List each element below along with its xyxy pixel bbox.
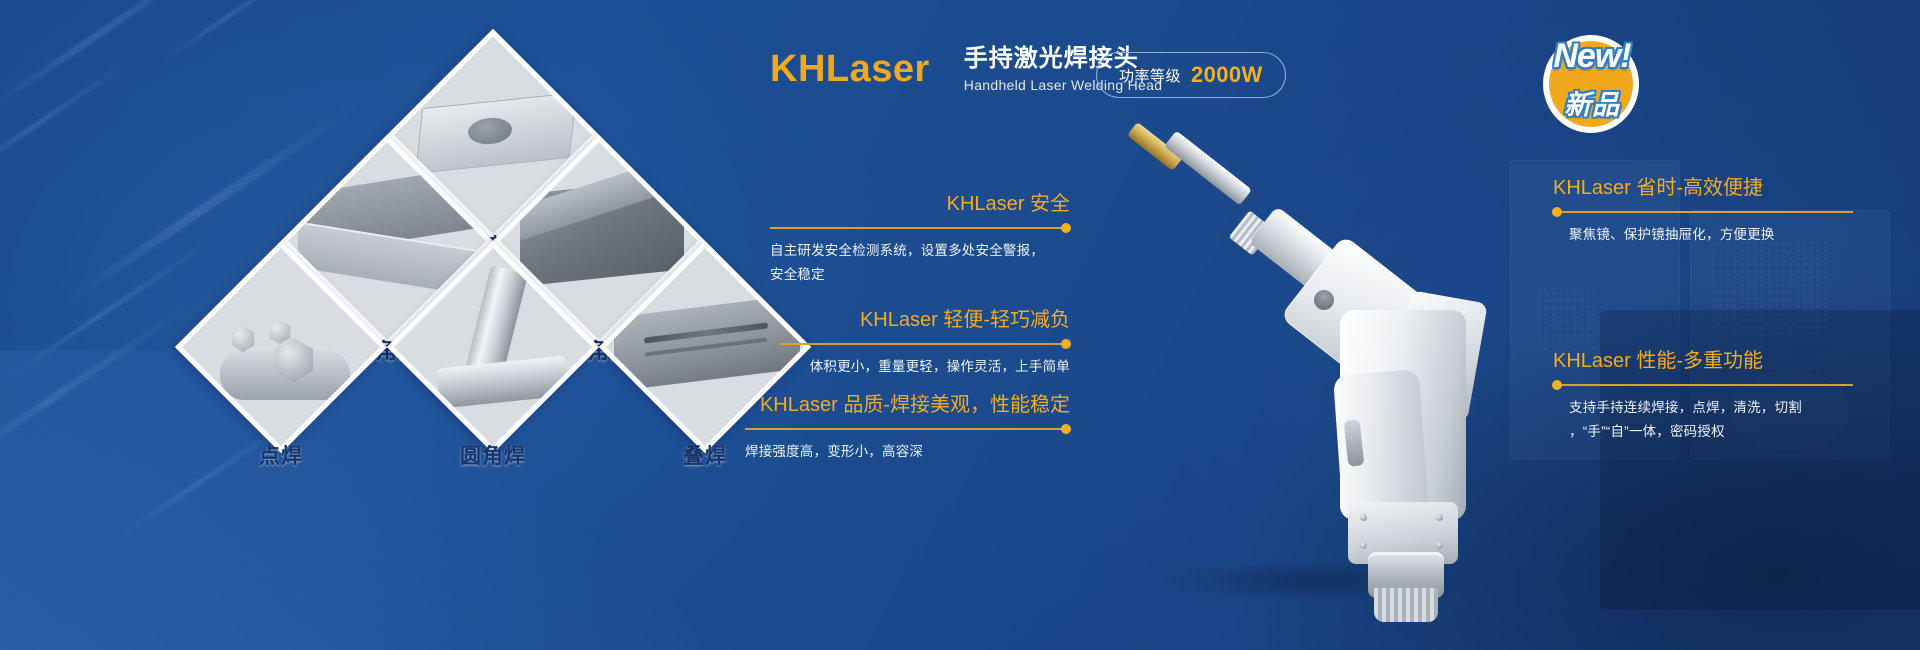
gun-base-collar (1374, 588, 1438, 622)
new-badge-word: New! (1537, 37, 1647, 76)
callout-performance: KHLaser 性能-多重功能 支持手持连续焊接，点焊，清洗，切割 ，“手”“自… (1553, 349, 1853, 443)
callout-quality-title: KHLaser 品质-焊接美观，性能稳定 (745, 393, 1070, 417)
gallery-label-fillet-weld: 圆角焊 (418, 440, 568, 470)
callout-performance-body: 支持手持连续焊接，点焊，清洗，切割 ，“手”“自”一体，密码授权 (1569, 396, 1853, 443)
callout-lightweight-title: KHLaser 轻便-轻巧减负 (780, 308, 1070, 332)
gun-nozzle-body (1164, 131, 1252, 206)
gallery-label-spot-weld: 点焊 (206, 440, 356, 470)
callout-quality-body: 焊接强度高，变形小，高容深 (745, 440, 1070, 464)
callout-lightweight: KHLaser 轻便-轻巧减负 体积更小，重量更轻，操作灵活，上手简单 (780, 308, 1070, 379)
weld-sample-gallery: 对接焊 阴角焊 阳角焊 点焊 圆角焊 叠焊 (150, 50, 770, 470)
laser-welding-gun-photo (1100, 120, 1540, 620)
promo-banner: 对接焊 阴角焊 阳角焊 点焊 圆角焊 叠焊 KHLa (0, 0, 1920, 650)
power-rating-value: 2000W (1191, 62, 1263, 88)
callout-lightweight-rule (780, 339, 1070, 349)
callout-quality-rule (745, 424, 1070, 434)
callout-dot-icon (1552, 207, 1562, 217)
brand-name: KHLaser (770, 50, 930, 88)
callout-safety-rule (770, 223, 1070, 233)
callout-lightweight-body: 体积更小，重量更轻，操作灵活，上手简单 (780, 355, 1070, 379)
callout-safety-body: 自主研发安全检测系统，设置多处安全警报， 安全稳定 (770, 239, 1070, 286)
power-rating-label: 功率等级 (1119, 65, 1181, 86)
callout-efficiency: KHLaser 省时-高效便捷 聚焦镜、保护镜抽屉化，方便更换 (1553, 176, 1853, 247)
callout-safety: KHLaser 安全 自主研发安全检测系统，设置多处安全警报， 安全稳定 (770, 192, 1070, 286)
callout-efficiency-rule (1553, 207, 1853, 217)
callout-dot-icon (1552, 380, 1562, 390)
callout-performance-rule (1553, 380, 1853, 390)
callout-safety-title: KHLaser 安全 (770, 192, 1070, 216)
callout-efficiency-body: 聚焦镜、保护镜抽屉化，方便更换 (1569, 223, 1853, 247)
new-badge-word-cn: 新品 (1537, 83, 1647, 122)
callout-performance-title: KHLaser 性能-多重功能 (1553, 349, 1853, 373)
new-product-badge: New! 新品 (1537, 31, 1647, 135)
callout-quality: KHLaser 品质-焊接美观，性能稳定 焊接强度高，变形小，高容深 (745, 393, 1070, 464)
power-rating-badge: 功率等级 2000W (1096, 52, 1286, 98)
callout-efficiency-title: KHLaser 省时-高效便捷 (1553, 176, 1853, 200)
callout-dot-icon (1061, 424, 1071, 434)
callout-dot-icon (1061, 339, 1071, 349)
callout-dot-icon (1061, 223, 1071, 233)
